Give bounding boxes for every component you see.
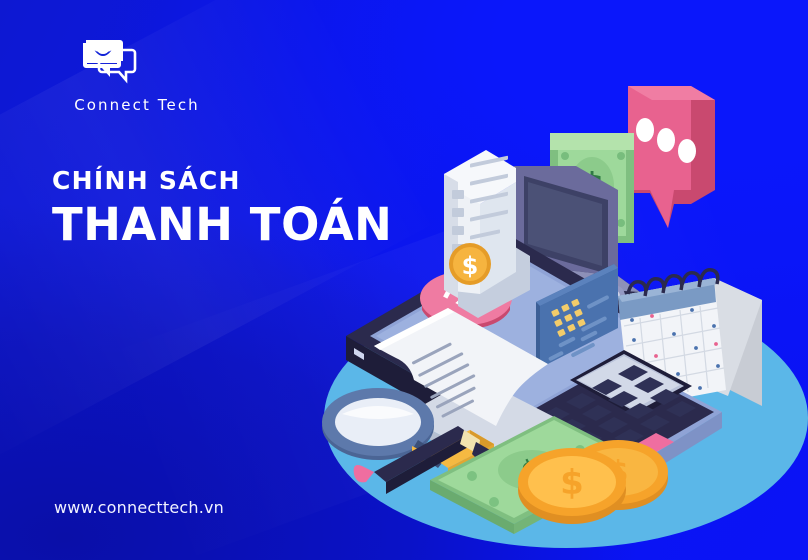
- chat-bubble-smile-icon: [80, 36, 142, 92]
- svg-text:$: $: [462, 252, 479, 280]
- isometric-payment-illustration: $ PAY: [318, 78, 808, 548]
- brand-logo[interactable]: Connect Tech: [52, 36, 232, 118]
- svg-text:$: $: [560, 463, 584, 503]
- brand-name: Connect Tech: [52, 96, 222, 114]
- payment-policy-banner: Connect Tech CHÍNH SÁCH THANH TOÁN www.c…: [0, 0, 808, 560]
- gold-coin: $: [518, 448, 626, 524]
- website-url[interactable]: www.connecttech.vn: [54, 498, 224, 517]
- dollar-coin-badge: $: [449, 243, 491, 285]
- chat-speech-bubble: [628, 86, 715, 228]
